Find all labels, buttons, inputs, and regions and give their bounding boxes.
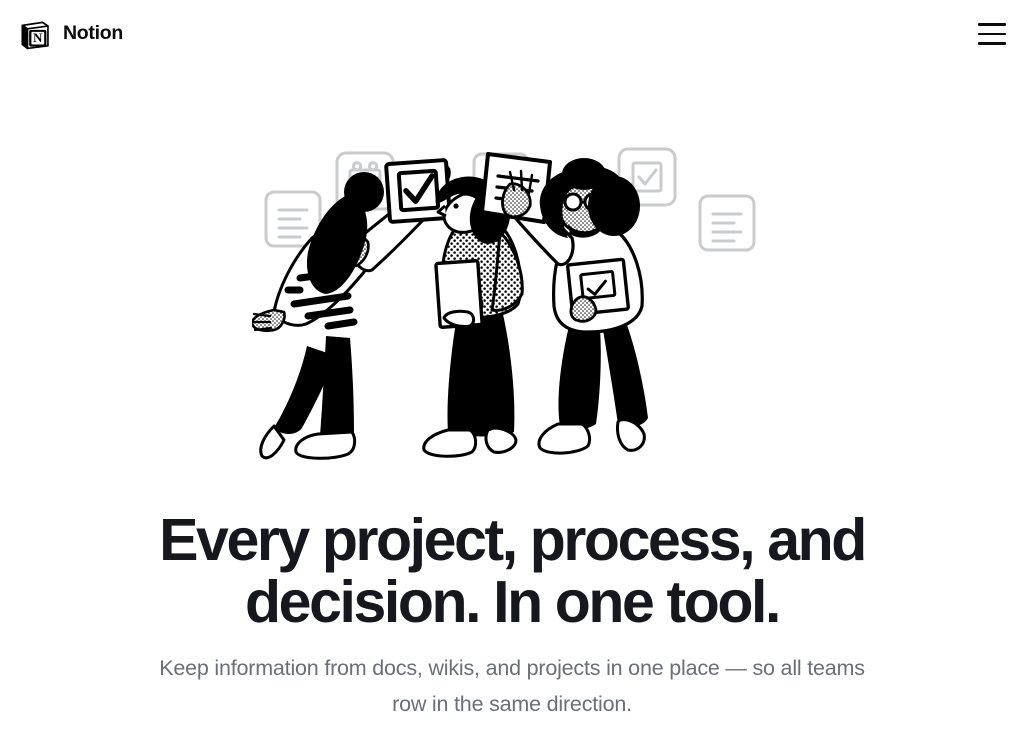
notion-cube-logo-icon: N: [16, 16, 52, 52]
site-header: N Notion: [0, 0, 1024, 68]
menu-bar-3: [978, 42, 1006, 45]
page-title: Every project, process, and decision. In…: [112, 509, 912, 633]
brand-link[interactable]: N Notion: [16, 16, 123, 52]
svg-text:N: N: [33, 31, 43, 45]
landing-page: N Notion: [0, 0, 1024, 743]
menu-bar-1: [978, 23, 1006, 26]
floating-card-document-right: [700, 196, 754, 250]
menu-bar-2: [978, 33, 1006, 36]
page-subtitle: Keep information from docs, wikis, and p…: [142, 650, 882, 722]
person-left-reaching-checkbox-card: [252, 160, 452, 458]
hamburger-menu-icon[interactable]: [970, 19, 1006, 49]
brand-name: Notion: [63, 24, 123, 44]
three-people-with-floating-cards-illustration: Aa: [252, 140, 772, 485]
hero-section: Aa: [0, 68, 1024, 743]
